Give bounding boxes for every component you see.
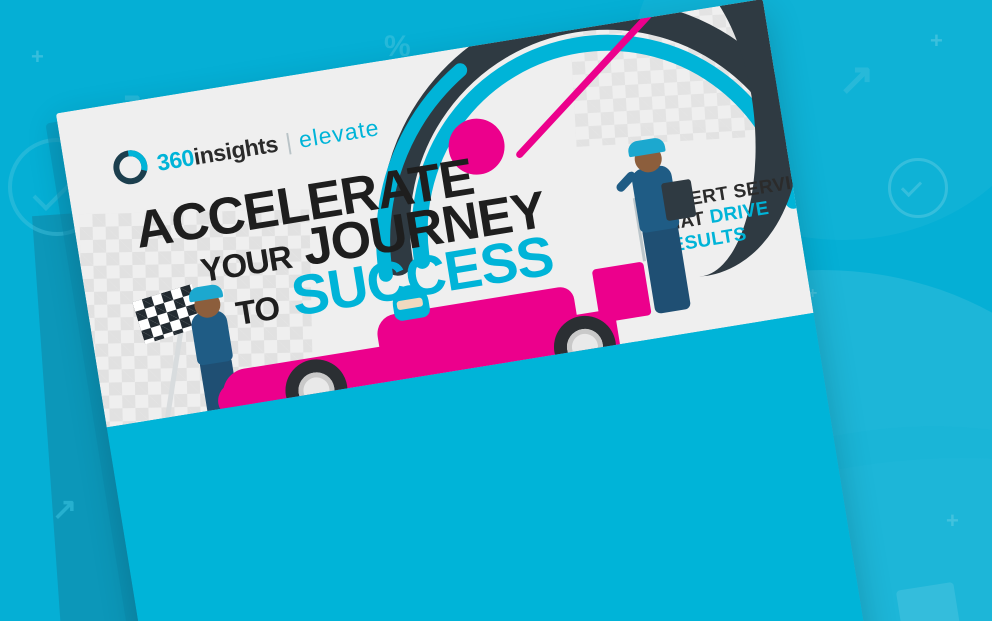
plus-icon: + (946, 510, 959, 532)
clipboard-icon (661, 179, 697, 221)
check-circle-icon (888, 158, 948, 218)
brand-name-suffix: insights (192, 130, 280, 169)
plus-icon: + (31, 46, 44, 68)
brand-name-prefix: 360 (155, 144, 196, 176)
page-canvas: + + + + + % $ ↗ ↗ ↗ (0, 0, 992, 621)
brochure-card: 360insights|elevate ACCELERATE YOUR JOUR… (56, 0, 868, 621)
arrow-up-right-icon: ↗ (838, 54, 875, 105)
plus-icon: + (930, 30, 943, 52)
brand-separator: | (283, 128, 293, 155)
logo-mark-icon (111, 148, 150, 187)
arrow-up-right-icon: ↗ (52, 492, 77, 527)
